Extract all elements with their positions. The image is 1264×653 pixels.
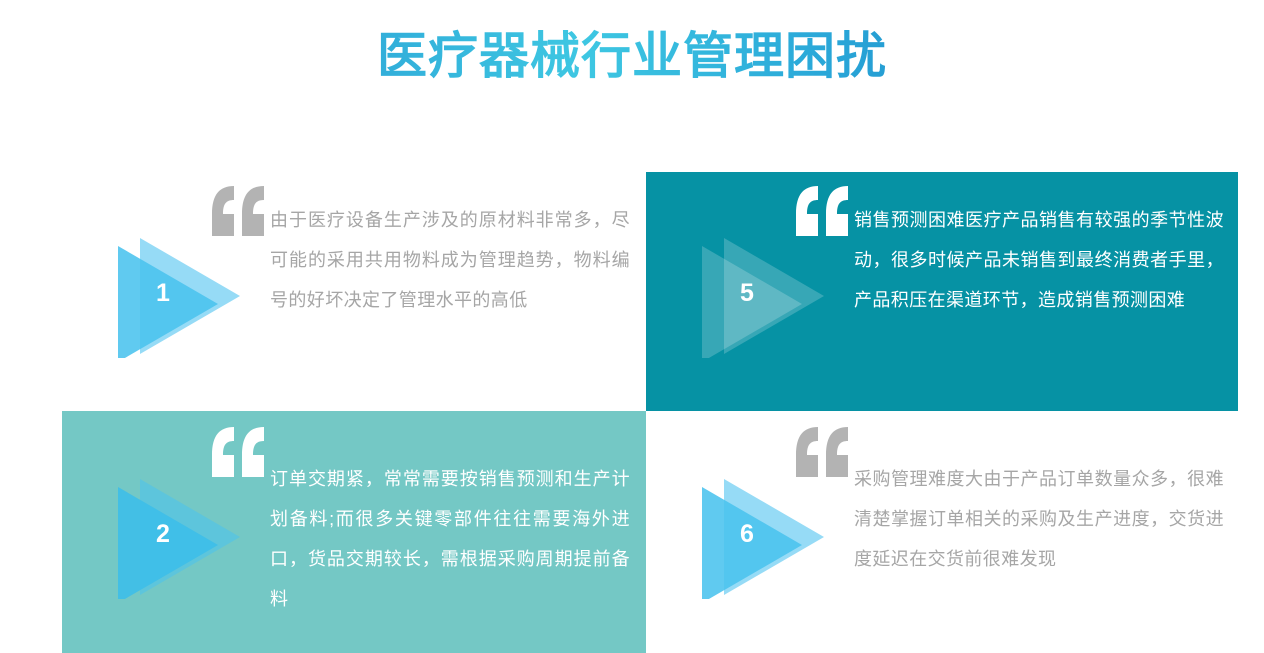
arrow-play-icon: 1 — [114, 234, 242, 358]
arrow-play-icon: 5 — [698, 234, 826, 358]
card-body-text-2: 订单交期紧，常常需要按销售预测和生产计划备料;而很多关键零部件往往需要海外进口，… — [270, 459, 630, 619]
card-number-6: 6 — [730, 522, 764, 547]
card-item-2[interactable]: 2 订单交期紧，常常需要按销售预测和生产计划备料;而很多关键零部件往往需要海外进… — [62, 411, 647, 653]
arrow-play-icon: 2 — [114, 475, 242, 599]
card-number-1: 1 — [146, 281, 180, 306]
cards-grid: 1 由于医疗设备生产涉及的原材料非常多，尽可能的采用共用物料成为管理趋势，物料编… — [0, 0, 1264, 653]
quote-open-icon — [794, 425, 854, 481]
card-number-5: 5 — [730, 281, 764, 306]
card-body-text-1: 由于医疗设备生产涉及的原材料非常多，尽可能的采用共用物料成为管理趋势，物料编号的… — [270, 200, 630, 320]
card-item-6[interactable]: 6 采购管理难度大由于产品订单数量众多，很难清楚掌握订单相关的采购及生产进度，交… — [646, 411, 1238, 653]
card-body-text-6: 采购管理难度大由于产品订单数量众多，很难清楚掌握订单相关的采购及生产进度，交货进… — [854, 459, 1224, 579]
quote-open-icon — [210, 425, 270, 481]
card-item-5[interactable]: 5 销售预测困难医疗产品销售有较强的季节性波动，很多时候产品未销售到最终消费者手… — [646, 172, 1238, 412]
card-body-text-5: 销售预测困难医疗产品销售有较强的季节性波动，很多时候产品未销售到最终消费者手里，… — [854, 200, 1224, 320]
arrow-play-icon: 6 — [698, 475, 826, 599]
card-item-1[interactable]: 1 由于医疗设备生产涉及的原材料非常多，尽可能的采用共用物料成为管理趋势，物料编… — [62, 172, 647, 412]
quote-open-icon — [210, 184, 270, 240]
card-number-2: 2 — [146, 522, 180, 547]
quote-open-icon — [794, 184, 854, 240]
